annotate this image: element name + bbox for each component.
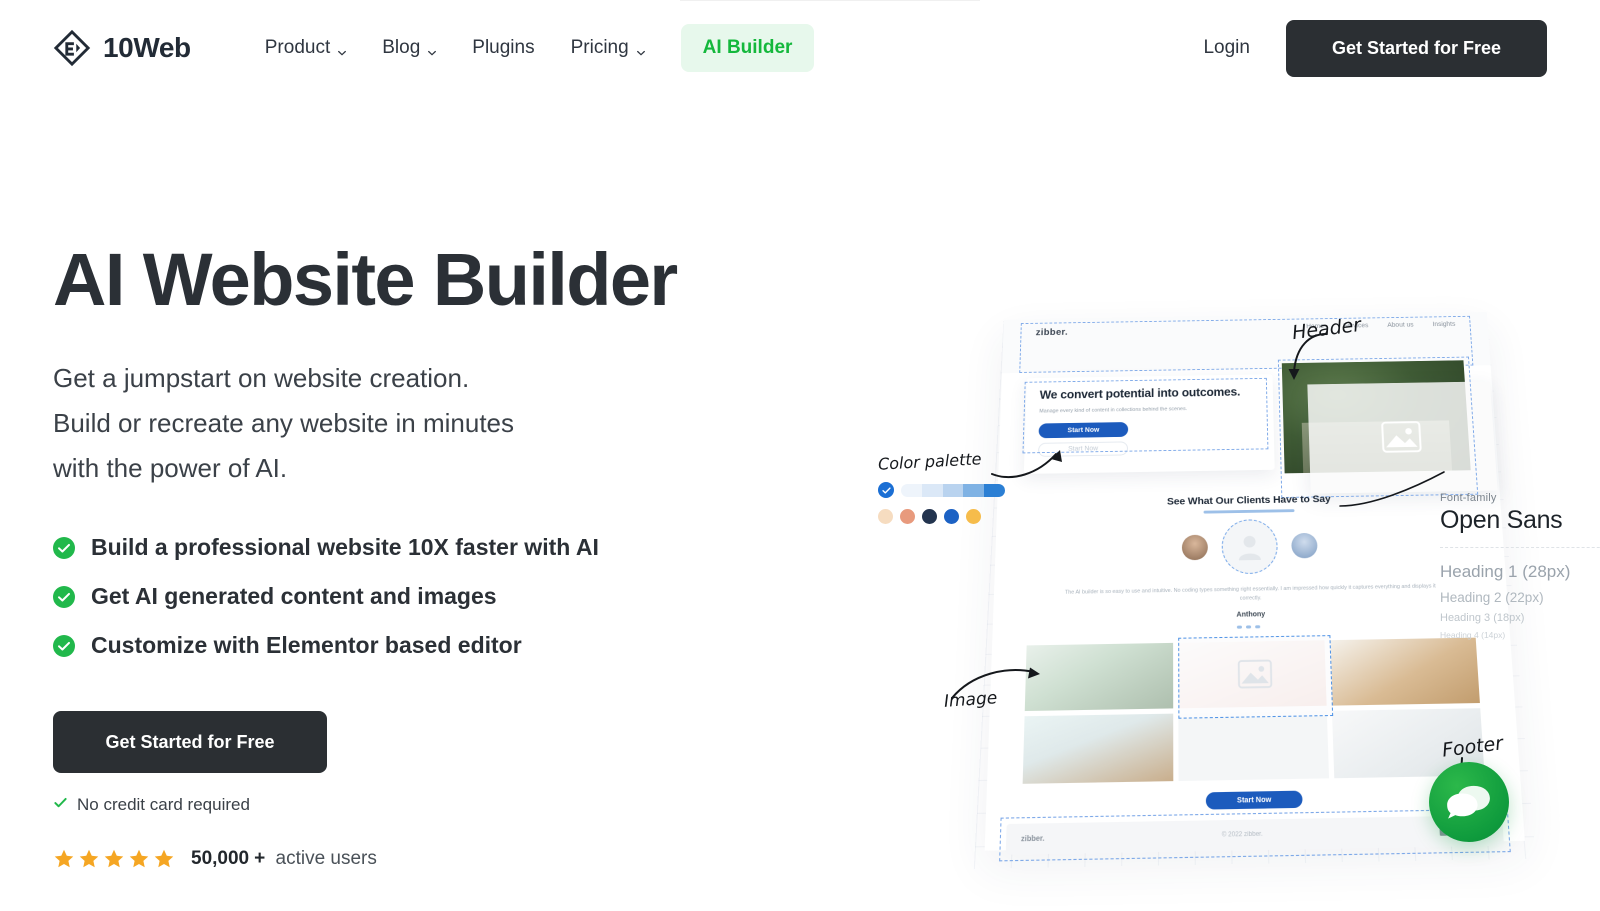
typography-divider (1440, 547, 1600, 548)
typography-label: Font-family (1440, 492, 1600, 504)
list-item: Customize with Elementor based editor (53, 632, 753, 659)
header-get-started-button[interactable]: Get Started for Free (1286, 20, 1547, 77)
nav-item-label: Pricing (571, 37, 629, 59)
page-root: 10Web Product Blog Plugins Pricing (0, 0, 1600, 911)
avatar (1182, 535, 1208, 561)
nav-item-pricing[interactable]: Pricing (553, 27, 663, 69)
hero-get-started-button[interactable]: Get Started for Free (53, 711, 327, 773)
color-palette-panel (878, 482, 1028, 524)
nav-item-label: Blog (382, 37, 420, 59)
feature-label: Customize with Elementor based editor (91, 632, 522, 659)
palette-selected-check-icon (878, 482, 894, 498)
palette-swatch (943, 484, 964, 497)
check-circle-icon (53, 635, 75, 657)
mockup-testimonial-quote: The AI builder is so easy to use and int… (1054, 582, 1447, 607)
palette-dot (922, 509, 937, 524)
hero-subtitle-line: Get a jumpstart on website creation. (53, 356, 753, 401)
check-circle-icon (53, 537, 75, 559)
palette-swatch (984, 484, 1005, 497)
star-icon (153, 848, 175, 870)
site-header: 10Web Product Blog Plugins Pricing (0, 0, 1600, 96)
star-icon (128, 848, 150, 870)
no-credit-card-label: No credit card required (77, 795, 250, 815)
mockup-testimonial-author: Anthony (993, 607, 1509, 623)
typography-scale-item: Heading 3 (18px) (1440, 612, 1600, 624)
mockup-hero-selection-frame (1022, 378, 1268, 454)
chevron-down-icon (636, 42, 645, 51)
nav-item-product[interactable]: Product (247, 27, 364, 69)
typography-panel: Font-family Open Sans Heading 1 (28px) H… (1440, 492, 1600, 640)
gallery-item (1025, 643, 1173, 711)
active-users-count: 50,000 (191, 848, 249, 869)
active-users-label: 50,000+ active users (191, 848, 377, 870)
mockup-photo-selection-frame (1278, 357, 1478, 498)
list-item: Get AI generated content and images (53, 583, 753, 610)
chat-bubbles-icon (1446, 783, 1492, 821)
image-placeholder-icon (1237, 659, 1272, 693)
hero-cta-wrap: Get Started for Free No credit card requ… (53, 711, 753, 815)
mockup-title-underline (1204, 509, 1295, 513)
mockup-testimonials-title: See What Our Clients Have to Say (997, 491, 1500, 511)
gallery-item (1178, 711, 1329, 781)
nav-item-ai-builder[interactable]: AI Builder (681, 24, 815, 72)
gallery-item (1023, 714, 1174, 784)
no-credit-card-note: No credit card required (53, 795, 753, 815)
star-icon (103, 848, 125, 870)
palette-dots-row (878, 509, 1028, 524)
check-circle-icon (53, 586, 75, 608)
check-icon (53, 795, 68, 815)
annotation-image-label: Image (943, 688, 998, 712)
palette-swatch (922, 484, 943, 497)
login-link[interactable]: Login (1203, 37, 1250, 59)
nav-item-plugins[interactable]: Plugins (454, 27, 552, 69)
feature-label: Get AI generated content and images (91, 583, 497, 610)
hero-subtitle: Get a jumpstart on website creation. Bui… (53, 356, 753, 490)
palette-dot (944, 509, 959, 524)
mockup-gallery-button: Start Now (1206, 791, 1303, 810)
nav-item-label: Product (265, 37, 330, 59)
feature-label: Build a professional website 10X faster … (91, 534, 599, 561)
chevron-down-icon (427, 42, 436, 51)
page-title: AI Website Builder (53, 242, 753, 318)
annotation-color-palette-label: Color palette (878, 449, 982, 473)
active-users-suffix: active users (276, 848, 377, 869)
palette-dot (966, 509, 981, 524)
star-icon (53, 848, 75, 870)
typography-scale-item: Heading 4 (14px) (1440, 630, 1600, 640)
typography-font-name: Open Sans (1440, 506, 1600, 535)
nav-item-blog[interactable]: Blog (364, 27, 454, 69)
brand-logo[interactable]: 10Web (53, 29, 191, 67)
hero-subtitle-line: Build or recreate any website in minutes (53, 401, 753, 446)
palette-swatch (901, 484, 922, 497)
main-nav: Product Blog Plugins Pricing AI Bu (247, 24, 815, 72)
header-topline (680, 0, 980, 1)
person-icon (1237, 533, 1263, 561)
typography-scale-item: Heading 2 (22px) (1440, 590, 1600, 605)
mockup-avatars (995, 515, 1506, 578)
hero-content: AI Website Builder Get a jumpstart on we… (53, 242, 753, 815)
star-rating (53, 848, 175, 870)
palette-bar-row (878, 482, 1028, 498)
typography-scale-item: Heading 1 (28px) (1440, 562, 1600, 582)
star-icon (78, 848, 100, 870)
palette-swatch (963, 484, 984, 497)
gallery-item (1330, 638, 1480, 706)
list-item: Build a professional website 10X faster … (53, 534, 753, 561)
brand-name: 10Web (103, 32, 191, 64)
palette-gradient-bar (901, 484, 1005, 497)
mockup-gallery-selected-image (1178, 635, 1333, 719)
mockup-carousel-dots (1237, 625, 1260, 628)
avatar (1291, 533, 1318, 559)
active-users-plus: + (254, 848, 265, 869)
rating-block: 50,000+ active users (53, 848, 377, 870)
chevron-down-icon (337, 42, 346, 51)
chat-widget-button[interactable] (1429, 762, 1509, 842)
palette-dot (900, 509, 915, 524)
nav-item-label: Plugins (472, 37, 534, 59)
avatar-placeholder (1221, 519, 1278, 574)
feature-list: Build a professional website 10X faster … (53, 534, 753, 659)
hero-subtitle-line: with the power of AI. (53, 446, 753, 491)
palette-dot (878, 509, 893, 524)
header-actions: Login Get Started for Free (1203, 20, 1547, 77)
10web-diamond-logo-icon (53, 29, 91, 67)
